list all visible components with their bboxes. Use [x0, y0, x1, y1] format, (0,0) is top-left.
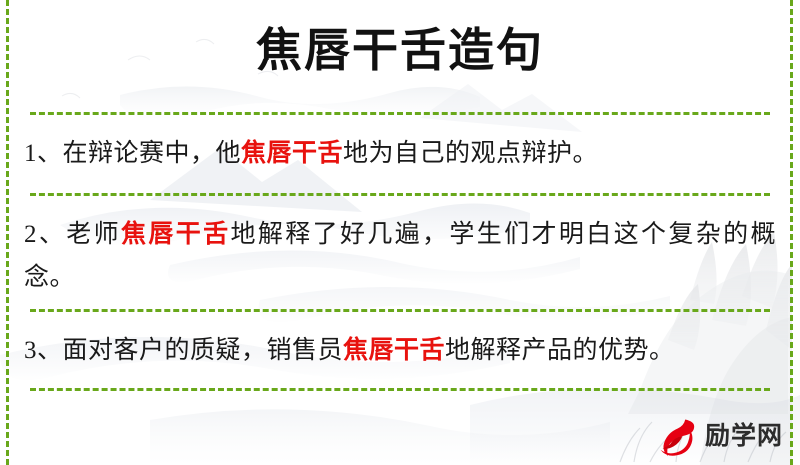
example-sentence-3: 3、面对客户的质疑，销售员焦唇干舌地解释产品的优势。 — [24, 329, 776, 372]
sentence-3-before: 面对客户的质疑，销售员 — [63, 337, 344, 364]
sentence-1-idiom: 焦唇干舌 — [241, 140, 343, 167]
site-logo-watermark: 励学网 — [655, 413, 790, 459]
example-sentence-1: 1、在辩论赛中，他焦唇干舌地为自己的观点辩护。 — [24, 132, 776, 175]
site-logo-text: 励学网 — [705, 424, 783, 449]
sentence-2-index: 2、 — [24, 221, 66, 248]
sentence-3-after: 地解释产品的优势。 — [445, 337, 675, 364]
sentence-1-before: 在辩论赛中，他 — [63, 140, 242, 167]
example-sentence-2: 2、老师焦唇干舌地解释了好几遍，学生们才明白这个复杂的概念。 — [24, 213, 776, 299]
separator-line-4 — [30, 388, 770, 391]
sentence-1-index: 1、 — [24, 140, 63, 167]
sentence-3-index: 3、 — [24, 337, 63, 364]
separator-line-1 — [30, 112, 770, 115]
content-area: 焦唇干舌造句 1、在辩论赛中，他焦唇干舌地为自己的观点辩护。 2、老师焦唇干舌地… — [0, 0, 800, 465]
sentence-2-idiom: 焦唇干舌 — [121, 221, 230, 248]
sentence-3-idiom: 焦唇干舌 — [343, 337, 445, 364]
sentence-1-after: 地为自己的观点辩护。 — [343, 140, 598, 167]
page-root: 焦唇干舌造句 1、在辩论赛中，他焦唇干舌地为自己的观点辩护。 2、老师焦唇干舌地… — [0, 0, 800, 465]
separator-line-2 — [30, 193, 770, 196]
red-swirl-flame-icon — [655, 414, 699, 458]
sentence-2-before: 老师 — [66, 221, 121, 248]
separator-line-3 — [30, 309, 770, 312]
page-title: 焦唇干舌造句 — [0, 22, 800, 80]
